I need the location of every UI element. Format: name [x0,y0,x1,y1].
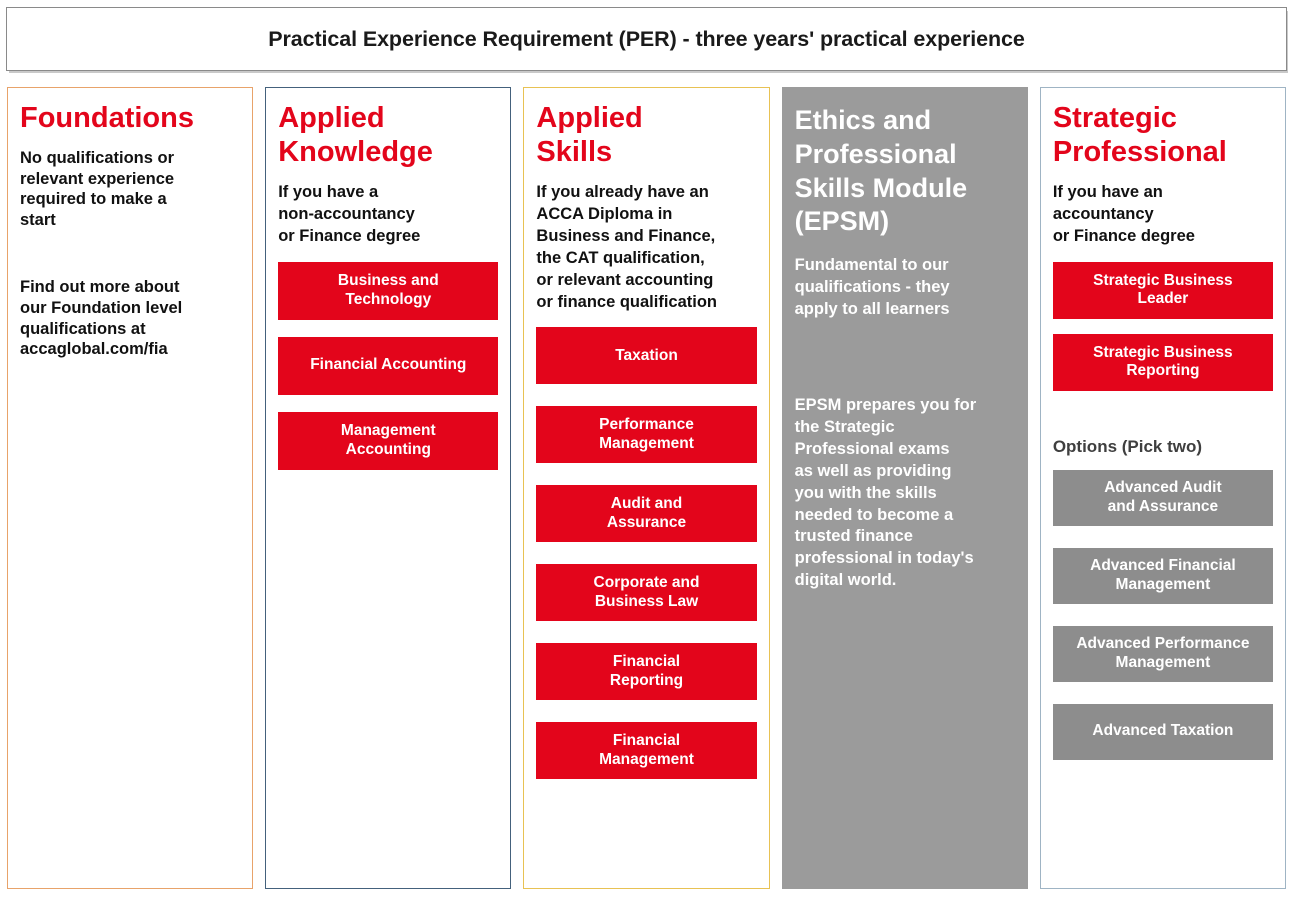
exam-box[interactable]: Corporate and Business Law [536,564,756,621]
exam-box[interactable]: Strategic Business Leader [1053,262,1273,319]
column-title-strategic-professional: Strategic Professional [1053,102,1273,170]
exam-list-applied-knowledge: Business and Technology Financial Accoun… [278,262,498,470]
exam-box[interactable]: Taxation [536,327,756,384]
column-intro-secondary-epsm: EPSM prepares you for the Strategic Prof… [795,395,1015,592]
exam-box[interactable]: Management Accounting [278,412,498,470]
columns-row: Foundations No qualifications or relevan… [6,87,1287,889]
column-intro-secondary-foundations: Find out more about our Foundation level… [20,277,240,360]
column-title-applied-knowledge: Applied Knowledge [278,102,498,170]
option-box[interactable]: Advanced Performance Management [1053,626,1273,682]
exam-list-strategic-options: Advanced Audit and Assurance Advanced Fi… [1053,470,1273,760]
column-applied-skills: Applied Skills If you already have an AC… [523,87,769,889]
option-box[interactable]: Advanced Audit and Assurance [1053,470,1273,526]
exam-list-strategic-essentials: Strategic Business Leader Strategic Busi… [1053,262,1273,391]
column-title-foundations: Foundations [20,102,240,136]
column-intro-applied-skills: If you already have an ACCA Diploma in B… [536,182,756,314]
exam-box[interactable]: Financial Management [536,722,756,779]
column-foundations: Foundations No qualifications or relevan… [7,87,253,889]
column-strategic-professional: Strategic Professional If you have an ac… [1040,87,1286,889]
exam-box[interactable]: Financial Accounting [278,337,498,395]
column-intro-epsm: Fundamental to our qualifications - they… [795,255,1015,321]
exam-box[interactable]: Strategic Business Reporting [1053,334,1273,391]
column-title-applied-skills: Applied Skills [536,102,756,170]
exam-box[interactable]: Business and Technology [278,262,498,320]
column-epsm: Ethics and Professional Skills Module (E… [782,87,1028,889]
exam-box[interactable]: Audit and Assurance [536,485,756,542]
column-intro-foundations: No qualifications or relevant experience… [20,148,240,231]
column-applied-knowledge: Applied Knowledge If you have a non-acco… [265,87,511,889]
option-box[interactable]: Advanced Financial Management [1053,548,1273,604]
column-title-epsm: Ethics and Professional Skills Module (E… [795,104,1015,239]
exam-box[interactable]: Performance Management [536,406,756,463]
exam-box[interactable]: Financial Reporting [536,643,756,700]
qualification-pathway-diagram: Practical Experience Requirement (PER) -… [0,0,1293,903]
column-intro-strategic-professional: If you have an accountancy or Finance de… [1053,182,1273,248]
options-label: Options (Pick two) [1053,437,1273,457]
column-intro-applied-knowledge: If you have a non-accountancy or Finance… [278,182,498,248]
option-box[interactable]: Advanced Taxation [1053,704,1273,760]
exam-list-applied-skills: Taxation Performance Management Audit an… [536,327,756,779]
per-banner-title: Practical Experience Requirement (PER) -… [268,27,1025,52]
per-banner: Practical Experience Requirement (PER) -… [6,7,1287,71]
